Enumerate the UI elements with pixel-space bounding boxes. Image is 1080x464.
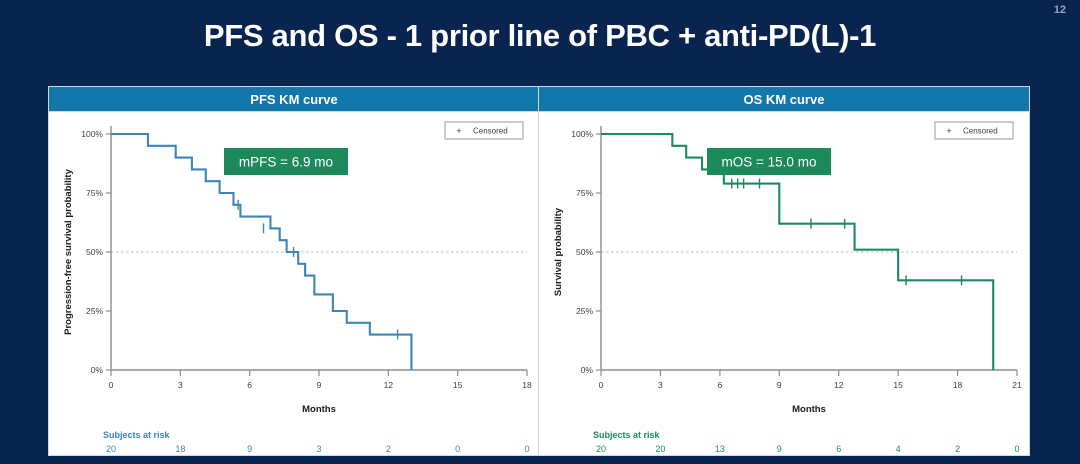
km-chart-pfs: 0%25%50%75%100%0369121518MonthsProgressi… <box>49 112 539 454</box>
censored-symbol: + <box>456 126 461 136</box>
risk-count: 2 <box>955 444 960 454</box>
y-tick-label: 0% <box>581 365 594 375</box>
x-tick-label: 0 <box>599 380 604 390</box>
y-tick-label: 0% <box>91 365 104 375</box>
x-tick-label: 6 <box>717 380 722 390</box>
y-tick-label: 50% <box>86 247 103 257</box>
y-axis-title: Progression-free survival probability <box>63 168 74 334</box>
risk-table-title: Subjects at risk <box>103 430 171 440</box>
x-axis-title: Months <box>302 404 336 415</box>
panel-header-os: OS KM curve <box>538 86 1030 112</box>
risk-count: 6 <box>836 444 841 454</box>
x-tick-label: 15 <box>893 380 903 390</box>
risk-count: 18 <box>175 444 185 454</box>
x-tick-label: 6 <box>247 380 252 390</box>
y-tick-label: 25% <box>576 306 593 316</box>
y-axis-title: Survival probability <box>553 207 564 296</box>
risk-count: 0 <box>455 444 460 454</box>
panel-pfs: PFS KM curve 0%25%50%75%100%0369121518Mo… <box>48 86 540 458</box>
x-tick-label: 21 <box>1012 380 1022 390</box>
risk-count: 0 <box>524 444 529 454</box>
x-tick-label: 9 <box>777 380 782 390</box>
risk-count: 20 <box>106 444 116 454</box>
slide: 12 PFS and OS - 1 prior line of PBC + an… <box>0 0 1080 464</box>
panel-os: OS KM curve 0%25%50%75%100%036912151821M… <box>538 86 1030 458</box>
y-tick-label: 100% <box>81 129 103 139</box>
risk-count: 20 <box>596 444 606 454</box>
panels-container: PFS KM curve 0%25%50%75%100%0369121518Mo… <box>0 86 1080 464</box>
y-tick-label: 100% <box>571 129 593 139</box>
page-number: 12 <box>1054 4 1066 16</box>
risk-count: 9 <box>777 444 782 454</box>
legend-label-censored: Censored <box>473 127 508 136</box>
panel-body-os: 0%25%50%75%100%036912151821MonthsSurviva… <box>538 112 1030 456</box>
x-tick-label: 18 <box>953 380 963 390</box>
median-annotation-label: mPFS = 6.9 mo <box>239 155 333 170</box>
x-tick-label: 0 <box>109 380 114 390</box>
x-tick-label: 9 <box>317 380 322 390</box>
x-tick-label: 12 <box>834 380 844 390</box>
y-tick-label: 50% <box>576 247 593 257</box>
y-tick-label: 75% <box>86 188 103 198</box>
x-tick-label: 15 <box>453 380 463 390</box>
x-tick-label: 3 <box>658 380 663 390</box>
page-title: PFS and OS - 1 prior line of PBC + anti-… <box>0 18 1080 54</box>
risk-count: 3 <box>316 444 321 454</box>
legend-label-censored: Censored <box>963 127 998 136</box>
y-tick-label: 75% <box>576 188 593 198</box>
x-tick-label: 3 <box>178 380 183 390</box>
x-tick-label: 18 <box>522 380 532 390</box>
median-annotation-label: mOS = 15.0 mo <box>722 155 817 170</box>
km-chart-os: 0%25%50%75%100%036912151821MonthsSurviva… <box>539 112 1029 454</box>
risk-count: 0 <box>1014 444 1019 454</box>
risk-count: 2 <box>386 444 391 454</box>
censored-symbol: + <box>946 126 951 136</box>
panel-header-pfs: PFS KM curve <box>48 86 540 112</box>
risk-count: 9 <box>247 444 252 454</box>
panel-body-pfs: 0%25%50%75%100%0369121518MonthsProgressi… <box>48 112 540 456</box>
x-axis-title: Months <box>792 404 826 415</box>
risk-table-title: Subjects at risk <box>593 430 661 440</box>
risk-count: 4 <box>896 444 901 454</box>
risk-count: 13 <box>715 444 725 454</box>
risk-count: 20 <box>655 444 665 454</box>
x-tick-label: 12 <box>384 380 394 390</box>
y-tick-label: 25% <box>86 306 103 316</box>
